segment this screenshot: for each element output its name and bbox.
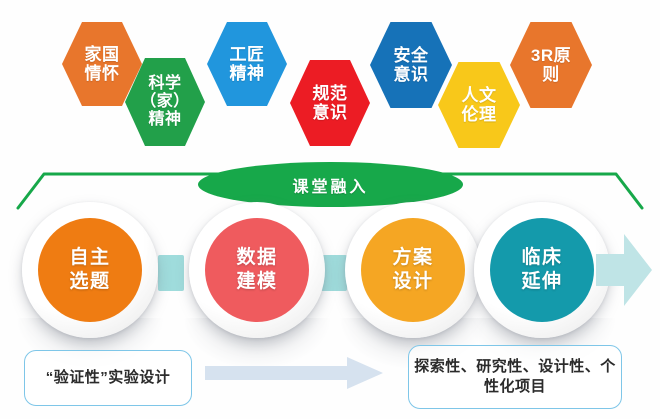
circle-shuju: 数据建模 — [189, 202, 325, 338]
verification-experiment-box: “验证性”实验设计 — [24, 350, 192, 406]
hex-renwen-line: 伦理 — [462, 105, 497, 124]
circle-zizhu-line: 自主 — [69, 246, 110, 270]
hex-3r: 3R原则 — [510, 22, 592, 108]
circle-shuju-disc: 数据建模 — [205, 218, 309, 322]
classroom-integration-label: 课堂融入 — [292, 173, 368, 197]
hex-guifan: 规范意识 — [290, 60, 370, 146]
transition-arrow-icon — [205, 357, 383, 389]
circle-linchuang-line: 临床 — [521, 246, 562, 270]
exploratory-project-box: 探索性、研究性、设计性、个性化项目 — [408, 345, 622, 409]
hex-anquan-line: 安全 — [394, 46, 429, 65]
circle-linchuang: 临床延伸 — [474, 202, 610, 338]
circle-fangan-line: 方案 — [392, 246, 433, 270]
hex-guifan-line: 规范 — [313, 84, 348, 103]
circle-fangan-disc: 方案设计 — [361, 218, 465, 322]
classroom-integration-badge: 课堂融入 — [198, 162, 463, 207]
hex-jiaguo-line: 情怀 — [85, 64, 120, 83]
hex-gongjiang-line: 工匠 — [230, 45, 265, 64]
hex-anquan: 安全意识 — [370, 22, 452, 108]
hex-3r-line: 3R原 — [531, 46, 571, 65]
circle-fangan: 方案设计 — [345, 202, 481, 338]
hex-jiaguo-line: 家国 — [85, 45, 120, 64]
hex-3r-line: 则 — [542, 65, 560, 84]
diagram-canvas: 家国情怀科学（家）精神工匠精神规范意识安全意识人文伦理3R原则 课堂融入 自主选… — [0, 0, 660, 419]
circle-zizhu-line: 选题 — [69, 270, 110, 294]
hex-kexue-line: （家） — [140, 93, 190, 111]
exploratory-project-label: 探索性、研究性、设计性、个性化项目 — [409, 357, 621, 398]
hex-guifan-line: 意识 — [313, 103, 348, 122]
hex-kexue-line: 精神 — [148, 111, 181, 129]
circle-shuju-line: 建模 — [236, 270, 277, 294]
hex-renwen: 人文伦理 — [438, 62, 520, 148]
hex-anquan-line: 意识 — [394, 65, 429, 84]
hex-gongjiang-line: 精神 — [230, 64, 265, 83]
circle-zizhu-disc: 自主选题 — [38, 218, 142, 322]
connector-1 — [158, 255, 184, 291]
circle-linchuang-disc: 临床延伸 — [490, 218, 594, 322]
hex-renwen-line: 人文 — [462, 86, 497, 105]
circle-shuju-line: 数据 — [236, 246, 277, 270]
circle-zizhu: 自主选题 — [22, 202, 158, 338]
hex-gongjiang: 工匠精神 — [207, 22, 287, 106]
circle-linchuang-line: 延伸 — [521, 270, 562, 294]
verification-experiment-label: “验证性”实验设计 — [46, 368, 171, 388]
circle-fangan-line: 设计 — [392, 270, 433, 294]
flow-end-arrow-icon — [596, 228, 652, 312]
hex-kexue-line: 科学 — [148, 75, 181, 93]
